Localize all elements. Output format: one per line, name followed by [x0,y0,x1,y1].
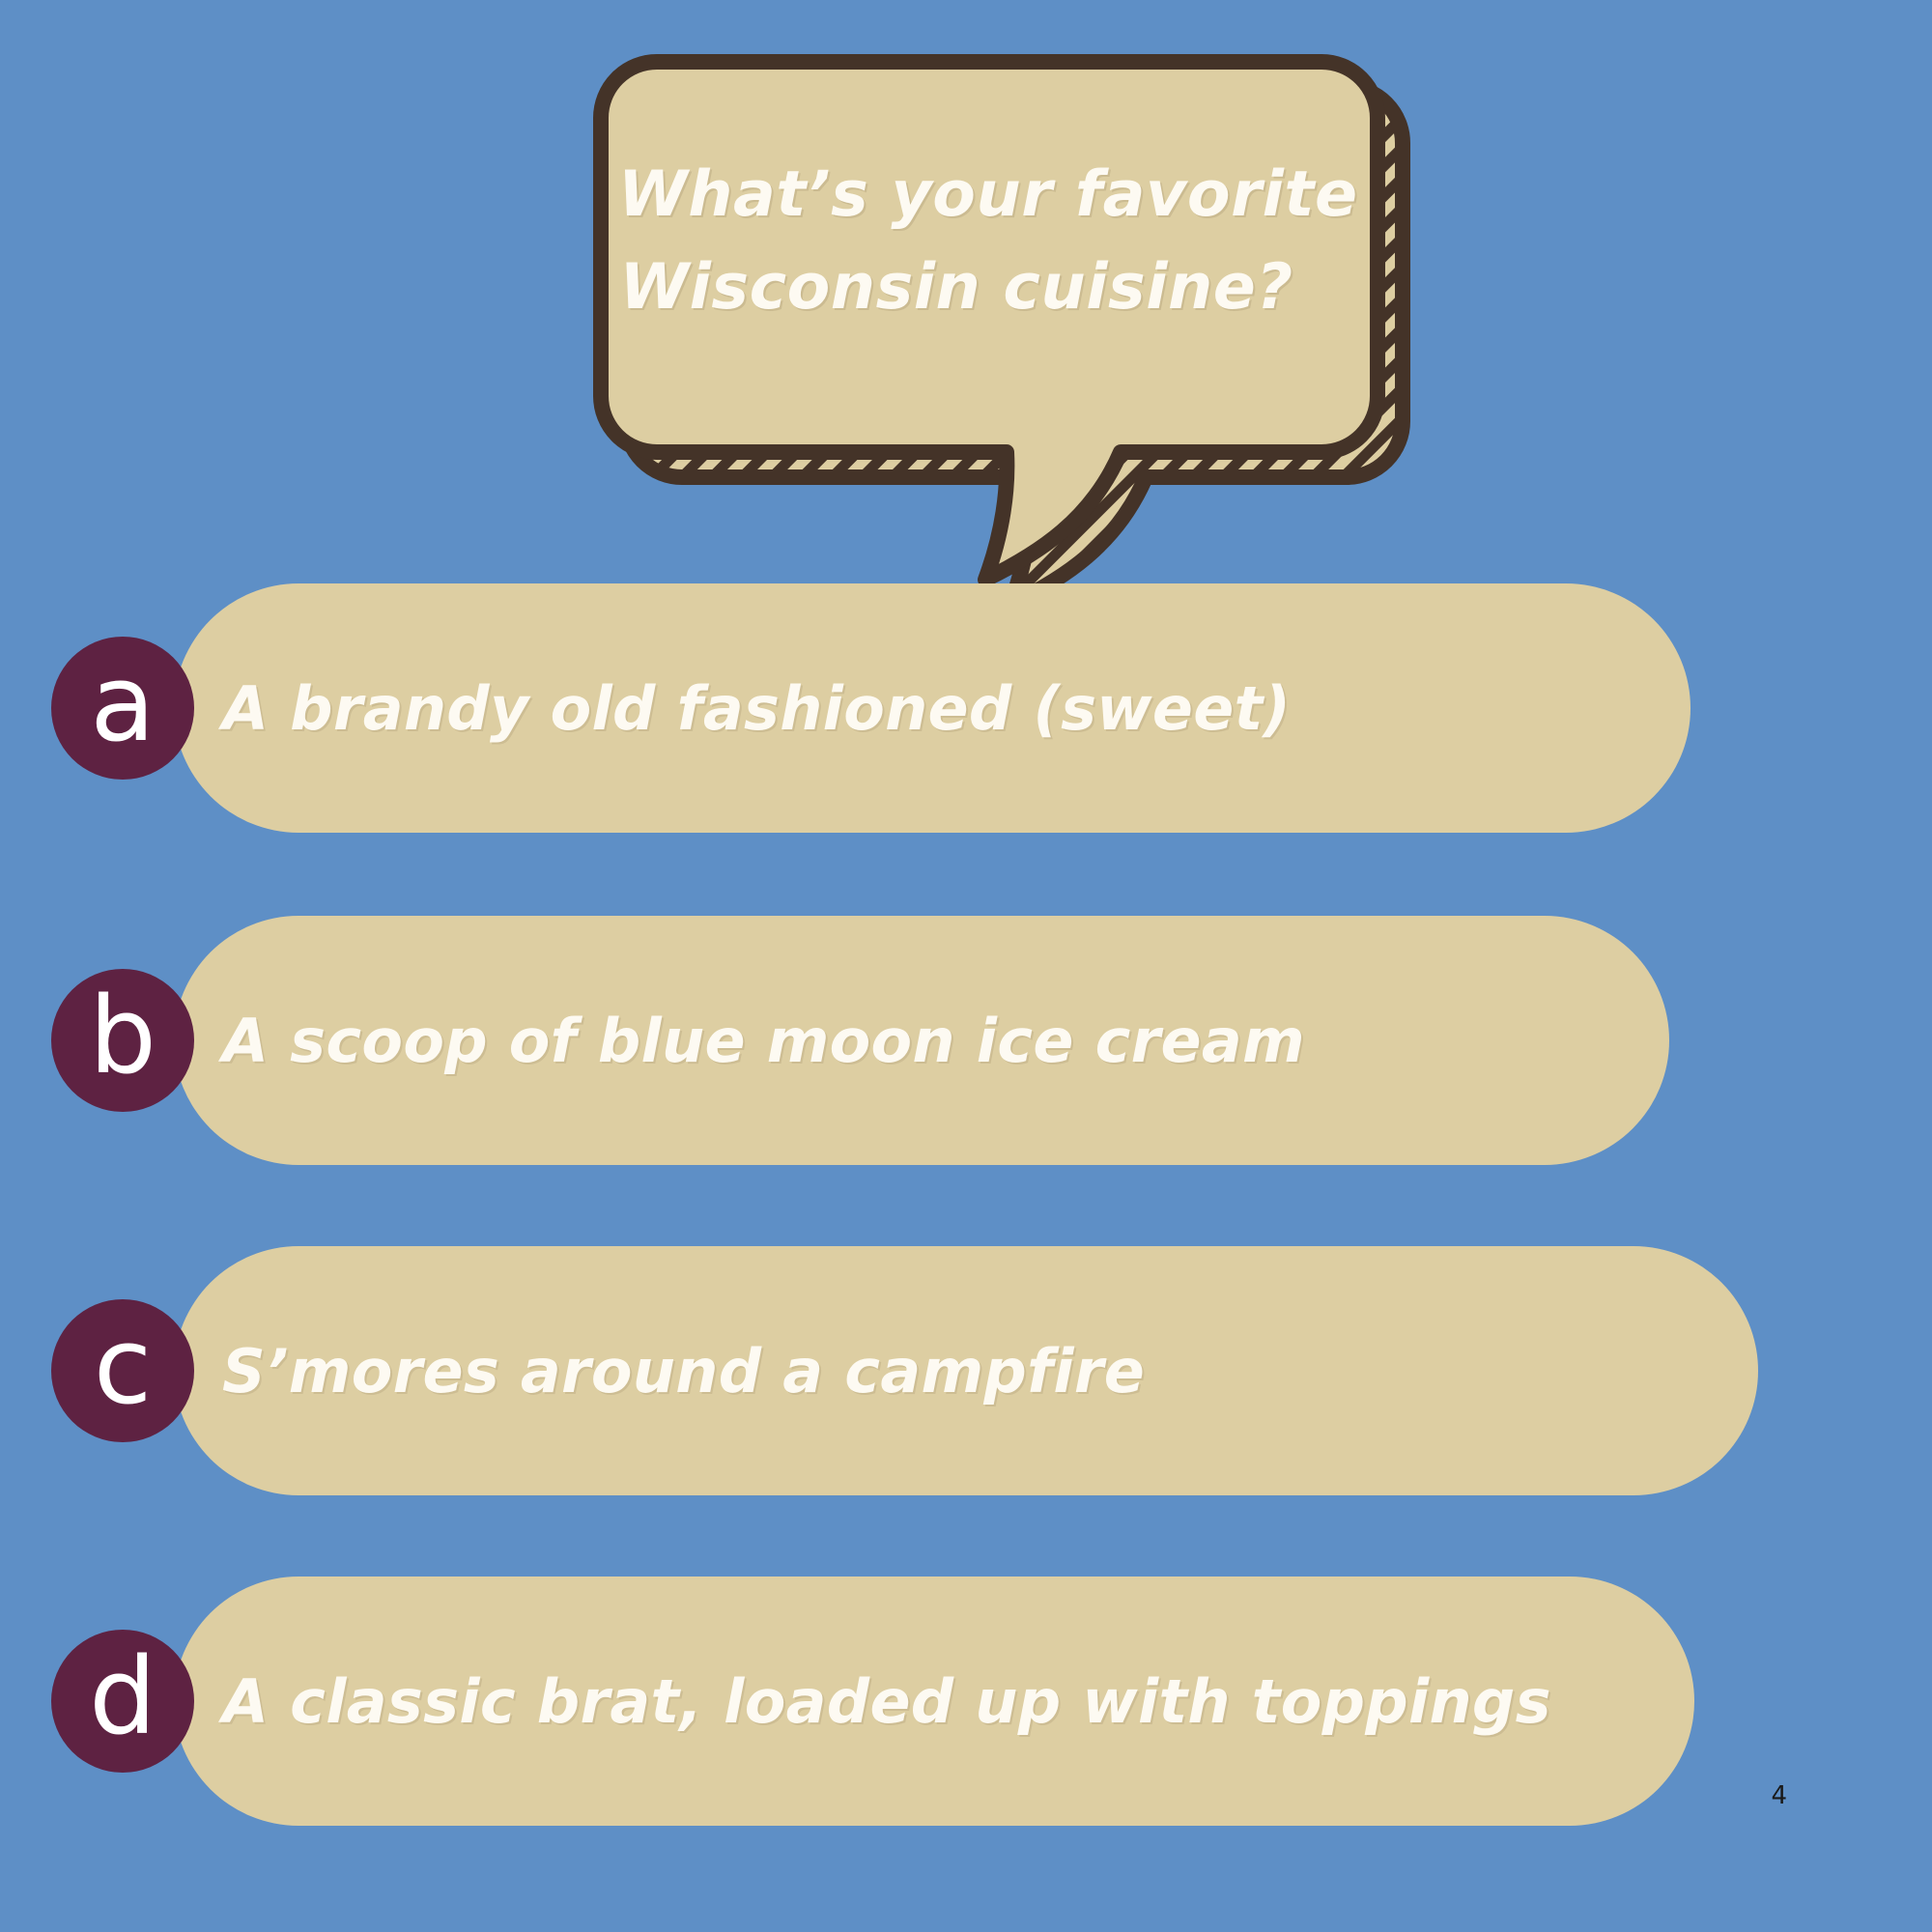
option-a-letter-badge: a [51,637,194,780]
question-line-2: Wisconsin cuisine? [618,241,1294,334]
option-a-label: A brandy old fashioned (sweet) [222,583,1291,833]
question-speech-bubble: What’s your favorite Wisconsin cuisine? [576,60,1387,562]
option-c-label: S’mores around a campfire [222,1246,1145,1495]
question-line-1: What’s your favorite [618,149,1294,241]
poll-slide: What’s your favorite Wisconsin cuisine? … [0,0,1932,1932]
option-c-letter-badge: c [51,1299,194,1442]
option-d-label: A classic brat, loaded up with toppings [222,1577,1551,1826]
question-text: What’s your favorite Wisconsin cuisine? [618,149,1294,334]
option-b-letter-badge: b [51,969,194,1112]
option-d-letter-badge: d [51,1630,194,1773]
page-number: 4 [1771,1783,1787,1808]
option-b-label: A scoop of blue moon ice cream [222,916,1305,1165]
